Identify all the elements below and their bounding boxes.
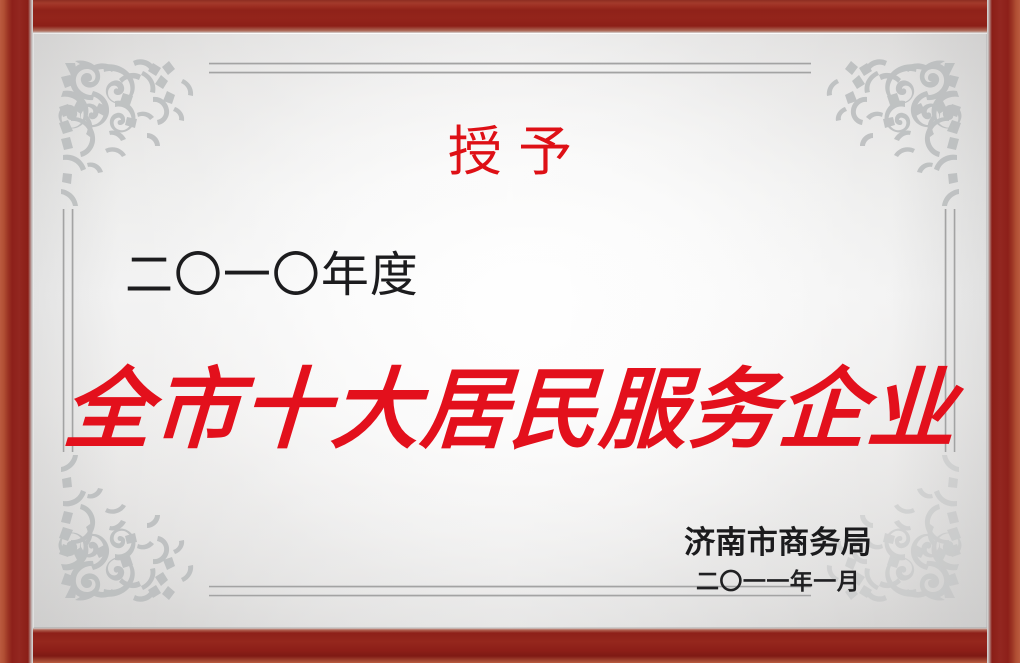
rule-bottom-outer	[209, 594, 811, 597]
honor-title: 全市十大居民服务企业	[33, 363, 987, 456]
frame-bottom-bevel	[0, 628, 1020, 663]
frame-top-bevel	[0, 0, 1020, 33]
award-verb: 授予	[33, 125, 987, 179]
award-plaque: 授予 二〇一〇年度 全市十大居民服务企业 济南市商务局 二〇一一年一月	[0, 0, 1020, 663]
corner-flourish-icon	[57, 57, 207, 207]
corner-flourish-icon	[813, 454, 963, 604]
rule-bottom-inner	[209, 585, 811, 588]
corner-flourish-icon	[57, 454, 207, 604]
plate-sheen	[33, 33, 987, 628]
rule-top-inner	[209, 71, 811, 74]
certificate-plate: 授予 二〇一〇年度 全市十大居民服务企业 济南市商务局 二〇一一年一月	[33, 33, 987, 628]
frame-left-bevel	[0, 0, 33, 663]
certificate-content: 授予 二〇一〇年度 全市十大居民服务企业 济南市商务局 二〇一一年一月	[33, 33, 987, 628]
issuer-date: 二〇一一年一月	[684, 569, 872, 596]
rule-right-outer	[953, 209, 956, 452]
rule-right-inner	[944, 209, 947, 452]
rule-top-outer	[209, 62, 811, 65]
rule-left-inner	[71, 209, 74, 452]
frame-right-bevel	[987, 0, 1020, 663]
award-year-line: 二〇一〇年度	[125, 251, 419, 299]
corner-flourish-icon	[813, 57, 963, 207]
issuer-name: 济南市商务局	[684, 525, 872, 562]
rule-left-outer	[62, 209, 65, 452]
